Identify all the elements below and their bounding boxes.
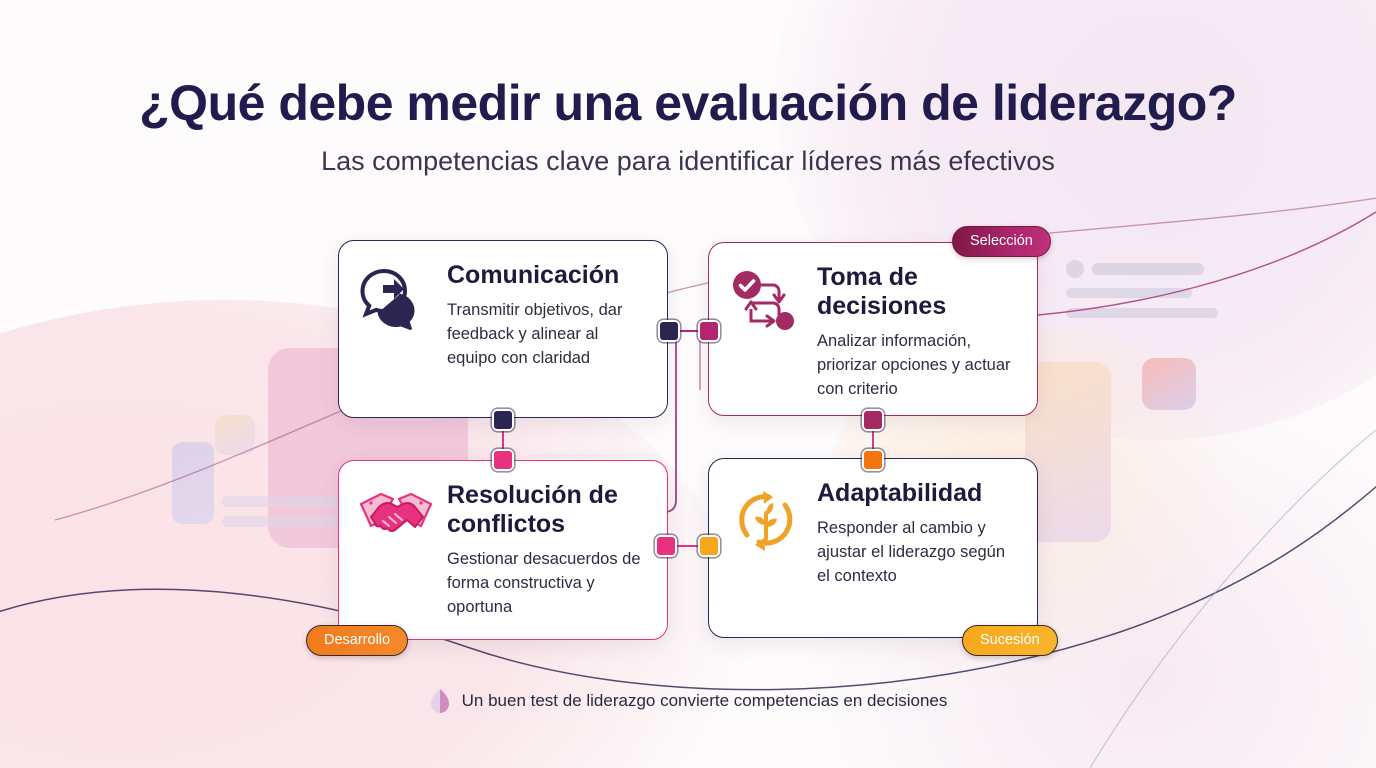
connector-node-conflictos-right[interactable] <box>655 535 677 557</box>
card-comunicacion[interactable]: Comunicación Transmitir objetivos, dar f… <box>338 240 668 418</box>
handshake-icon <box>359 487 431 554</box>
footer-text: Un buen test de liderazgo convierte comp… <box>462 691 948 711</box>
badge-seleccion[interactable]: Selección <box>952 226 1051 257</box>
connector-node-conflictos-top[interactable] <box>492 449 514 471</box>
card-body: Comunicación Transmitir objetivos, dar f… <box>447 261 645 371</box>
connector-lines <box>0 0 1376 768</box>
card-body: Toma de decisiones Analizar información,… <box>817 263 1015 402</box>
connector-node-comunicacion-bottom[interactable] <box>492 409 514 431</box>
card-adaptabilidad[interactable]: Adaptabilidad Responder al cambio y ajus… <box>708 458 1038 638</box>
card-description: Responder al cambio y ajustar el lideraz… <box>817 517 1015 589</box>
card-title: Resolución de conflictos <box>447 481 645 539</box>
connector-node-decisiones-left[interactable] <box>698 320 720 342</box>
petal-leaf-icon <box>429 688 451 714</box>
card-body: Adaptabilidad Responder al cambio y ajus… <box>817 479 1015 589</box>
decision-flow-check-icon <box>729 269 801 344</box>
card-title: Comunicación <box>447 261 645 290</box>
card-body: Resolución de conflictos Gestionar desac… <box>447 481 645 620</box>
growth-cycle-plant-icon <box>729 485 801 560</box>
connector-node-decisiones-bottom[interactable] <box>862 409 884 431</box>
connector-node-adaptabilidad-top[interactable] <box>862 449 884 471</box>
card-title: Toma de decisiones <box>817 263 1015 321</box>
badge-desarrollo[interactable]: Desarrollo <box>306 625 408 656</box>
infographic-canvas: ¿Qué debe medir una evaluación de lidera… <box>0 0 1376 768</box>
card-description: Gestionar desacuerdos de forma construct… <box>447 548 645 620</box>
card-title: Adaptabilidad <box>817 479 1015 508</box>
connector-node-comunicacion-right[interactable] <box>658 320 680 342</box>
connector-node-adaptabilidad-left[interactable] <box>698 535 720 557</box>
card-description: Analizar información, priorizar opciones… <box>817 330 1015 402</box>
card-toma-de-decisiones[interactable]: Toma de decisiones Analizar información,… <box>708 242 1038 416</box>
speech-bubbles-arrow-icon <box>359 267 431 338</box>
card-description: Transmitir objetivos, dar feedback y ali… <box>447 299 645 371</box>
footer: Un buen test de liderazgo convierte comp… <box>0 688 1376 714</box>
badge-sucesion[interactable]: Sucesión <box>962 625 1058 656</box>
card-resolucion-de-conflictos[interactable]: Resolución de conflictos Gestionar desac… <box>338 460 668 640</box>
